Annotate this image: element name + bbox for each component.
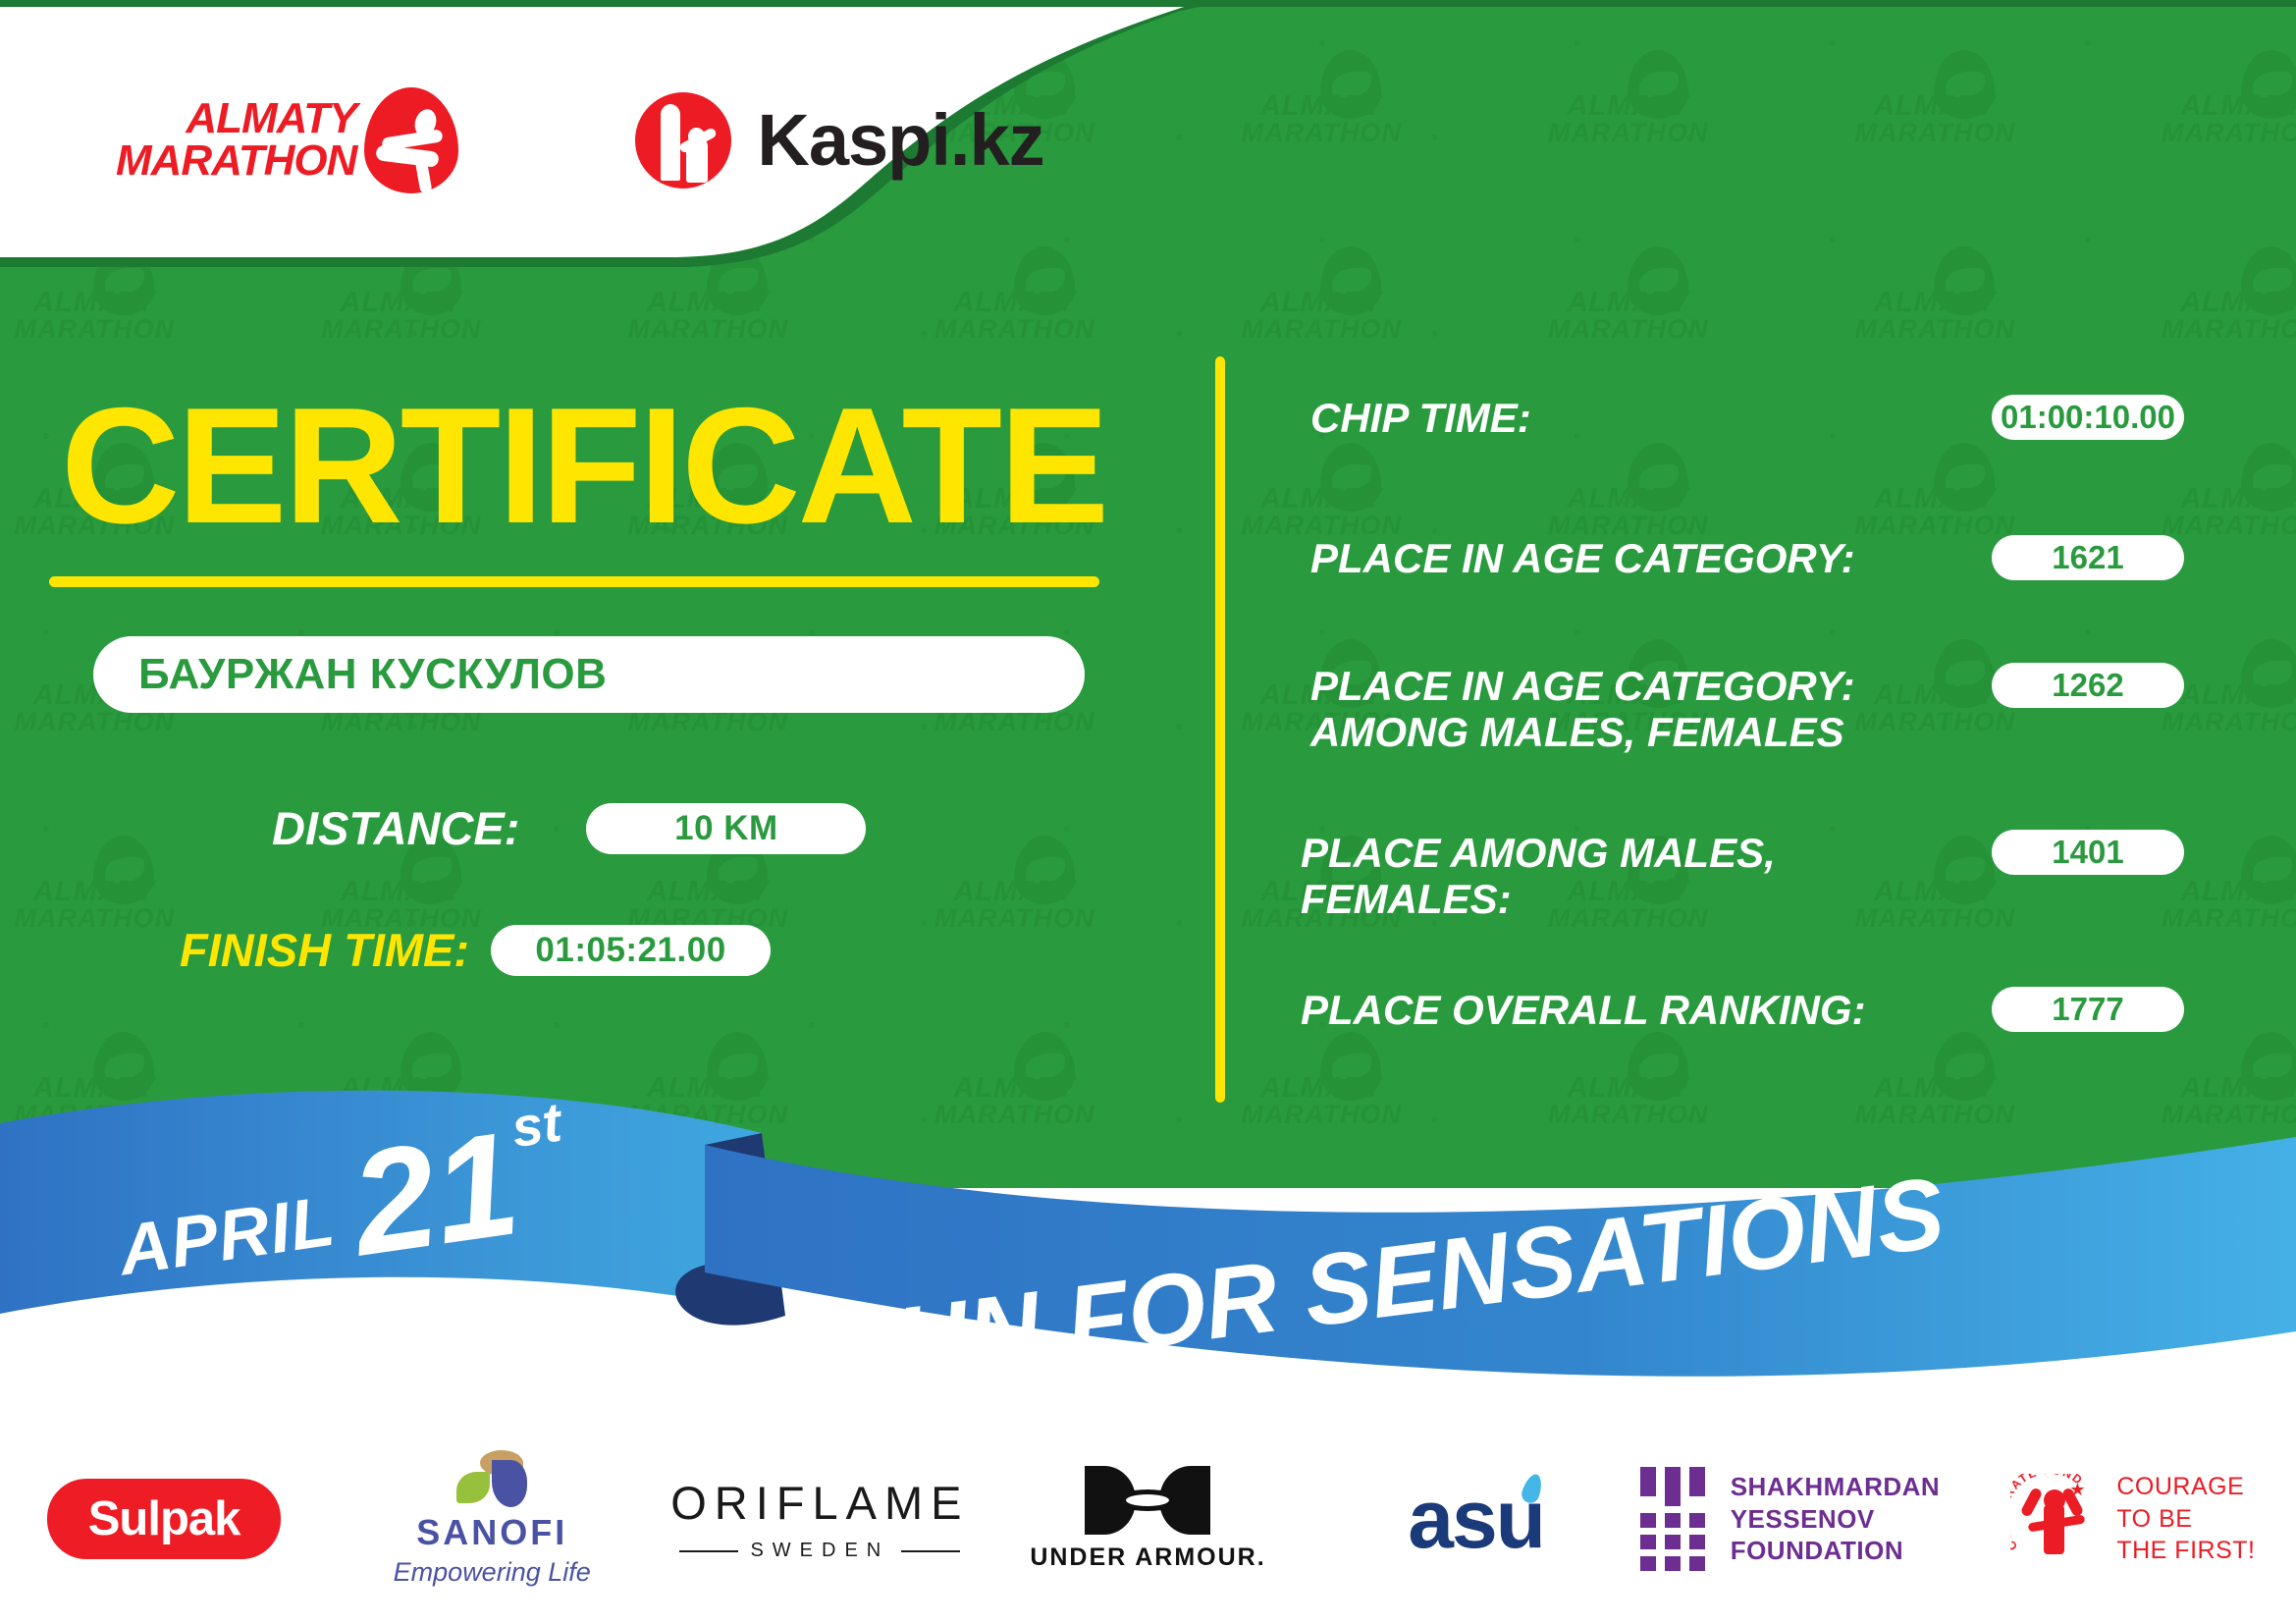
sponsor-yessenov-foundation[interactable]: SHAKHMARDAN YESSENOV FOUNDATION <box>1640 1440 1968 1597</box>
stat-place-age-category-among-mf-pill: 1262 <box>1992 663 2184 708</box>
sponsor-strip: Sulpak SANOFI Empowering Life ORIFLAME S… <box>0 1414 2296 1624</box>
almaty-marathon-wordmark: ALMATY MARATHON <box>116 98 356 182</box>
stat-place-among-mf-label: PLACE AMONG MALES, FEMALES: <box>1301 830 1776 922</box>
stat-place-among-mf: PLACE AMONG MALES, FEMALES: 1401 <box>1301 830 2184 922</box>
watermark-drop-icon <box>1627 443 1688 513</box>
stat-place-age-category: PLACE IN AGE CATEGORY: 1621 <box>1310 535 2184 581</box>
yessenov-logo: SHAKHMARDAN YESSENOV FOUNDATION <box>1640 1467 1968 1571</box>
stat-label-line1: PLACE AMONG MALES, <box>1301 830 1776 876</box>
title-underline <box>49 576 1099 587</box>
certificate-page: ALMATYMARATHONALMATYMARATHONALMATYMARATH… <box>0 0 2296 1624</box>
stat-place-overall: PLACE OVERALL RANKING: 1777 <box>1301 987 2184 1033</box>
sanofi-mark-icon <box>456 1450 527 1507</box>
watermark-text: ALMATYMARATHON <box>2162 93 2296 145</box>
watermark-drop-icon <box>2240 246 2296 316</box>
watermark-text: ALMATYMARATHON <box>1855 290 2015 342</box>
yessenov-line2: FOUNDATION <box>1731 1535 1968 1567</box>
yessenov-mark-icon <box>1640 1467 1705 1571</box>
watermark-drop-icon <box>1627 246 1688 316</box>
stat-place-among-mf-pill: 1401 <box>1992 830 2184 875</box>
top-divider-rule <box>0 0 2296 7</box>
watermark-tile: ALMATYMARATHON <box>862 785 1169 982</box>
sponsor-courage-fund[interactable]: CORPORATE FUND ★ COURAGE TO BE THE FIRST… <box>1968 1440 2296 1597</box>
watermark-tile: ALMATYMARATHON <box>2089 0 2296 196</box>
watermark-text: ALMATYMARATHON <box>934 879 1095 931</box>
asu-logo: asu <box>1408 1478 1544 1560</box>
event-day: 21 <box>346 1123 524 1264</box>
oriflame-wordmark: ORIFLAME <box>670 1476 969 1530</box>
stat-chip-time-label: CHIP TIME: <box>1310 395 1531 441</box>
header-logos: ALMATY MARATHON Kaspi.kz <box>0 0 1276 280</box>
sponsor-sanofi[interactable]: SANOFI Empowering Life <box>328 1440 656 1597</box>
participant-name-value: БАУРЖАН КУСКУЛОВ <box>138 650 607 699</box>
courage-line1: COURAGE <box>2116 1471 2255 1503</box>
sanofi-wordmark: SANOFI <box>416 1512 567 1553</box>
sulpak-logo: Sulpak <box>47 1479 282 1559</box>
under-armour-wordmark: UNDER ARMOUR. <box>1030 1543 1265 1572</box>
stat-place-age-category-value: 1621 <box>2052 539 2123 576</box>
watermark-text: ALMATYMARATHON <box>2162 486 2296 538</box>
watermark-drop-icon <box>1934 50 1996 120</box>
kaspi-wordmark: Kaspi.kz <box>757 98 1043 182</box>
watermark-text: ALMATYMARATHON <box>1548 93 1708 145</box>
sulpak-wordmark: Sulpak <box>88 1492 240 1545</box>
watermark-tile: ALMATYMARATHON <box>1475 0 1783 196</box>
stat-place-age-category-pill: 1621 <box>1992 535 2184 580</box>
kaspi-logo[interactable]: Kaspi.kz <box>635 92 1043 189</box>
event-day-ordinal: st <box>507 1090 565 1160</box>
marathon-line: MARATHON <box>116 140 356 183</box>
stat-place-age-category-among-mf-value: 1262 <box>2052 667 2123 704</box>
watermark-text: ALMATYMARATHON <box>15 879 175 931</box>
courage-logo: CORPORATE FUND ★ COURAGE TO BE THE FIRST… <box>2008 1471 2255 1567</box>
stat-chip-time-pill: 01:00:10.00 <box>1992 395 2184 440</box>
watermark-text: ALMATYMARATHON <box>1242 290 1402 342</box>
stat-place-age-category-among-mf: PLACE IN AGE CATEGORY: AMONG MALES, FEMA… <box>1310 663 2184 755</box>
finish-time-row: FINISH TIME: 01:05:21.00 <box>180 923 771 977</box>
courage-figure-icon: CORPORATE FUND ★ <box>2008 1472 2103 1566</box>
runner-drop-icon <box>364 87 458 193</box>
watermark-text: ALMATYMARATHON <box>1855 486 2015 538</box>
watermark-drop-icon <box>2240 836 2296 905</box>
watermark-drop-icon <box>1320 443 1382 513</box>
stat-label-line2: FEMALES: <box>1301 876 1776 922</box>
watermark-tile: ALMATYMARATHON <box>1782 0 2089 196</box>
watermark-tile: ALMATYMARATHON <box>1475 196 1783 393</box>
watermark-text: ALMATYMARATHON <box>1548 290 1708 342</box>
sanofi-logo: SANOFI Empowering Life <box>394 1450 591 1588</box>
yessenov-line1: SHAKHMARDAN YESSENOV <box>1731 1471 1968 1535</box>
watermark-drop-icon <box>1934 443 1996 513</box>
watermark-tile: ALMATYMARATHON <box>2089 196 2296 393</box>
watermark-drop-icon <box>1627 50 1688 120</box>
watermark-tile: ALMATYMARATHON <box>1782 196 2089 393</box>
watermark-text: ALMATYMARATHON <box>15 290 175 342</box>
stat-chip-time: CHIP TIME: 01:00:10.00 <box>1310 395 2184 441</box>
column-divider <box>1215 356 1225 1103</box>
kaspi-family-circle-icon <box>635 92 731 189</box>
distance-label: DISTANCE: <box>272 801 519 855</box>
distance-value-pill: 10 KM <box>586 803 866 854</box>
watermark-drop-icon <box>93 836 155 905</box>
oriflame-tagline: SWEDEN <box>750 1540 889 1562</box>
courage-line3: THE FIRST! <box>2116 1535 2255 1567</box>
sponsor-sulpak[interactable]: Sulpak <box>0 1440 328 1597</box>
distance-value: 10 KM <box>674 809 778 848</box>
stat-place-overall-pill: 1777 <box>1992 987 2184 1032</box>
sponsor-oriflame[interactable]: ORIFLAME SWEDEN <box>656 1440 984 1597</box>
stat-place-age-category-label: PLACE IN AGE CATEGORY: <box>1310 535 1855 581</box>
sponsor-under-armour[interactable]: UNDER ARMOUR. <box>984 1440 1311 1597</box>
watermark-drop-icon <box>1013 836 1075 905</box>
stat-place-age-category-among-mf-label: PLACE IN AGE CATEGORY: AMONG MALES, FEMA… <box>1310 663 1855 755</box>
oriflame-logo: ORIFLAME SWEDEN <box>670 1476 969 1562</box>
page-title: CERTIFICATE <box>61 383 1106 548</box>
stat-place-among-mf-value: 1401 <box>2052 834 2123 871</box>
under-armour-mark-icon <box>1085 1466 1210 1535</box>
stat-place-overall-value: 1777 <box>2052 991 2123 1028</box>
oriflame-tagline-row: SWEDEN <box>670 1540 969 1562</box>
yessenov-wordmark: SHAKHMARDAN YESSENOV FOUNDATION <box>1731 1471 1968 1567</box>
finish-time-value-pill: 01:05:21.00 <box>491 925 771 976</box>
watermark-text: ALMATYMARATHON <box>934 290 1095 342</box>
participant-name-field: БАУРЖАН КУСКУЛОВ <box>93 636 1085 713</box>
stat-chip-time-value: 01:00:10.00 <box>2001 399 2175 436</box>
watermark-text: ALMATYMARATHON <box>1855 93 2015 145</box>
watermark-text: ALMATYMARATHON <box>1242 486 1402 538</box>
stat-label-line1: PLACE IN AGE CATEGORY: <box>1310 663 1855 709</box>
almaty-line: ALMATY <box>186 98 356 140</box>
watermark-drop-icon <box>1934 246 1996 316</box>
sponsor-asu[interactable]: asu <box>1312 1440 1640 1597</box>
watermark-text: ALMATYMARATHON <box>321 290 481 342</box>
sanofi-tagline: Empowering Life <box>394 1557 591 1588</box>
finish-time-label: FINISH TIME: <box>180 923 469 977</box>
almaty-marathon-logo[interactable]: ALMATY MARATHON <box>116 87 458 193</box>
finish-time-value: 01:05:21.00 <box>535 931 725 970</box>
watermark-text: ALMATYMARATHON <box>1548 486 1708 538</box>
watermark-text: ALMATYMARATHON <box>2162 290 2296 342</box>
watermark-text: ALMATYMARATHON <box>628 290 788 342</box>
courage-wordmark: COURAGE TO BE THE FIRST! <box>2116 1471 2255 1567</box>
stat-label-line2: AMONG MALES, FEMALES <box>1310 709 1855 755</box>
stat-place-overall-label: PLACE OVERALL RANKING: <box>1301 987 1866 1033</box>
watermark-drop-icon <box>2240 639 2296 709</box>
distance-row: DISTANCE: 10 KM <box>272 801 866 855</box>
watermark-drop-icon <box>2240 443 2296 513</box>
watermark-drop-icon <box>2240 50 2296 120</box>
under-armour-logo: UNDER ARMOUR. <box>1030 1466 1265 1572</box>
courage-line2: TO BE <box>2116 1503 2255 1536</box>
